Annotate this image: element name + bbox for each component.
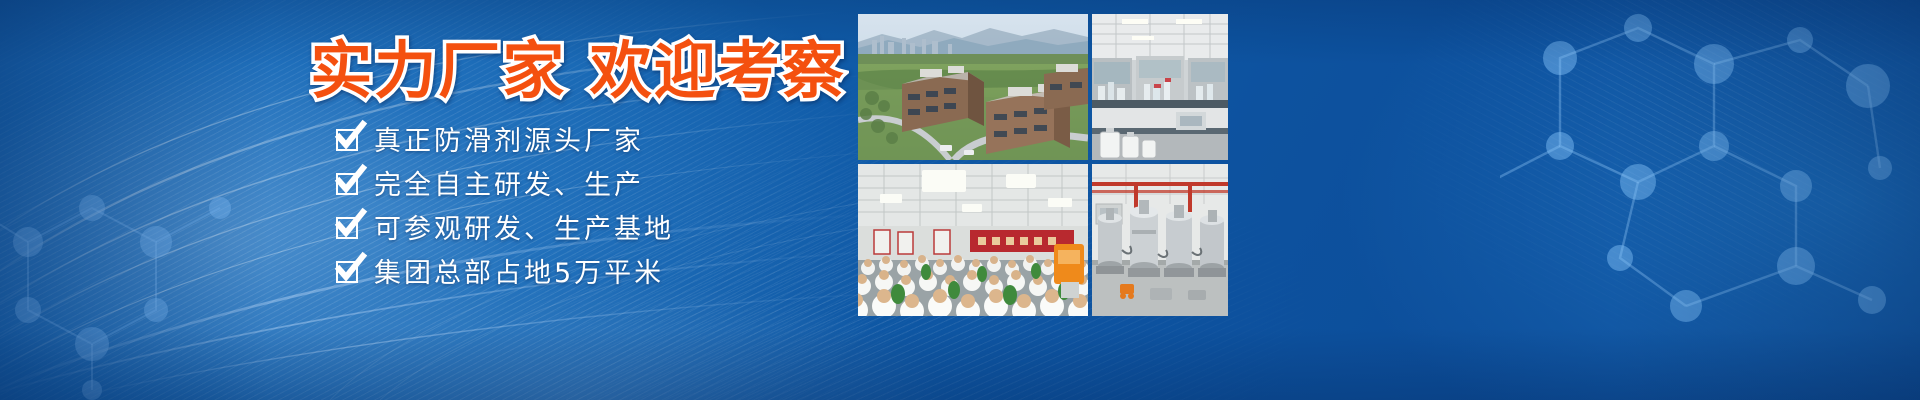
checkbox-check-icon xyxy=(336,217,358,239)
list-item-label: 集团总部占地5万平米 xyxy=(374,251,664,290)
checkbox-check-icon xyxy=(336,261,358,283)
list-item: 完全自主研发、生产 xyxy=(336,162,736,203)
photo-grid xyxy=(858,14,1228,316)
list-item: 真正防滑剂源头厂家 xyxy=(336,118,736,159)
production-equipment-photo xyxy=(1092,164,1228,316)
list-item-label: 可参观研发、生产基地 xyxy=(374,207,674,246)
aerial-campus-photo xyxy=(858,14,1088,160)
laboratory-photo xyxy=(1092,14,1228,160)
molecule-icon-left xyxy=(0,150,330,400)
headline-text: 实力厂家 欢迎考察 xyxy=(310,20,846,110)
list-item-label: 完全自主研发、生产 xyxy=(374,163,644,202)
feature-list: 真正防滑剂源头厂家 完全自主研发、生产 可参观研发、生产基地 xyxy=(336,118,736,294)
list-item: 集团总部占地5万平米 xyxy=(336,250,736,291)
list-item: 可参观研发、生产基地 xyxy=(336,206,736,247)
page-title: 实力厂家 欢迎考察 xyxy=(318,26,838,104)
promo-banner: 实力厂家 欢迎考察 真正防滑剂源头厂家 完全自主研发、生产 xyxy=(0,0,1920,400)
checkbox-check-icon xyxy=(336,173,358,195)
molecule-icon-right xyxy=(1500,0,1920,400)
staff-assembly-photo xyxy=(858,164,1088,316)
list-item-label: 真正防滑剂源头厂家 xyxy=(374,119,644,158)
checkbox-check-icon xyxy=(336,129,358,151)
